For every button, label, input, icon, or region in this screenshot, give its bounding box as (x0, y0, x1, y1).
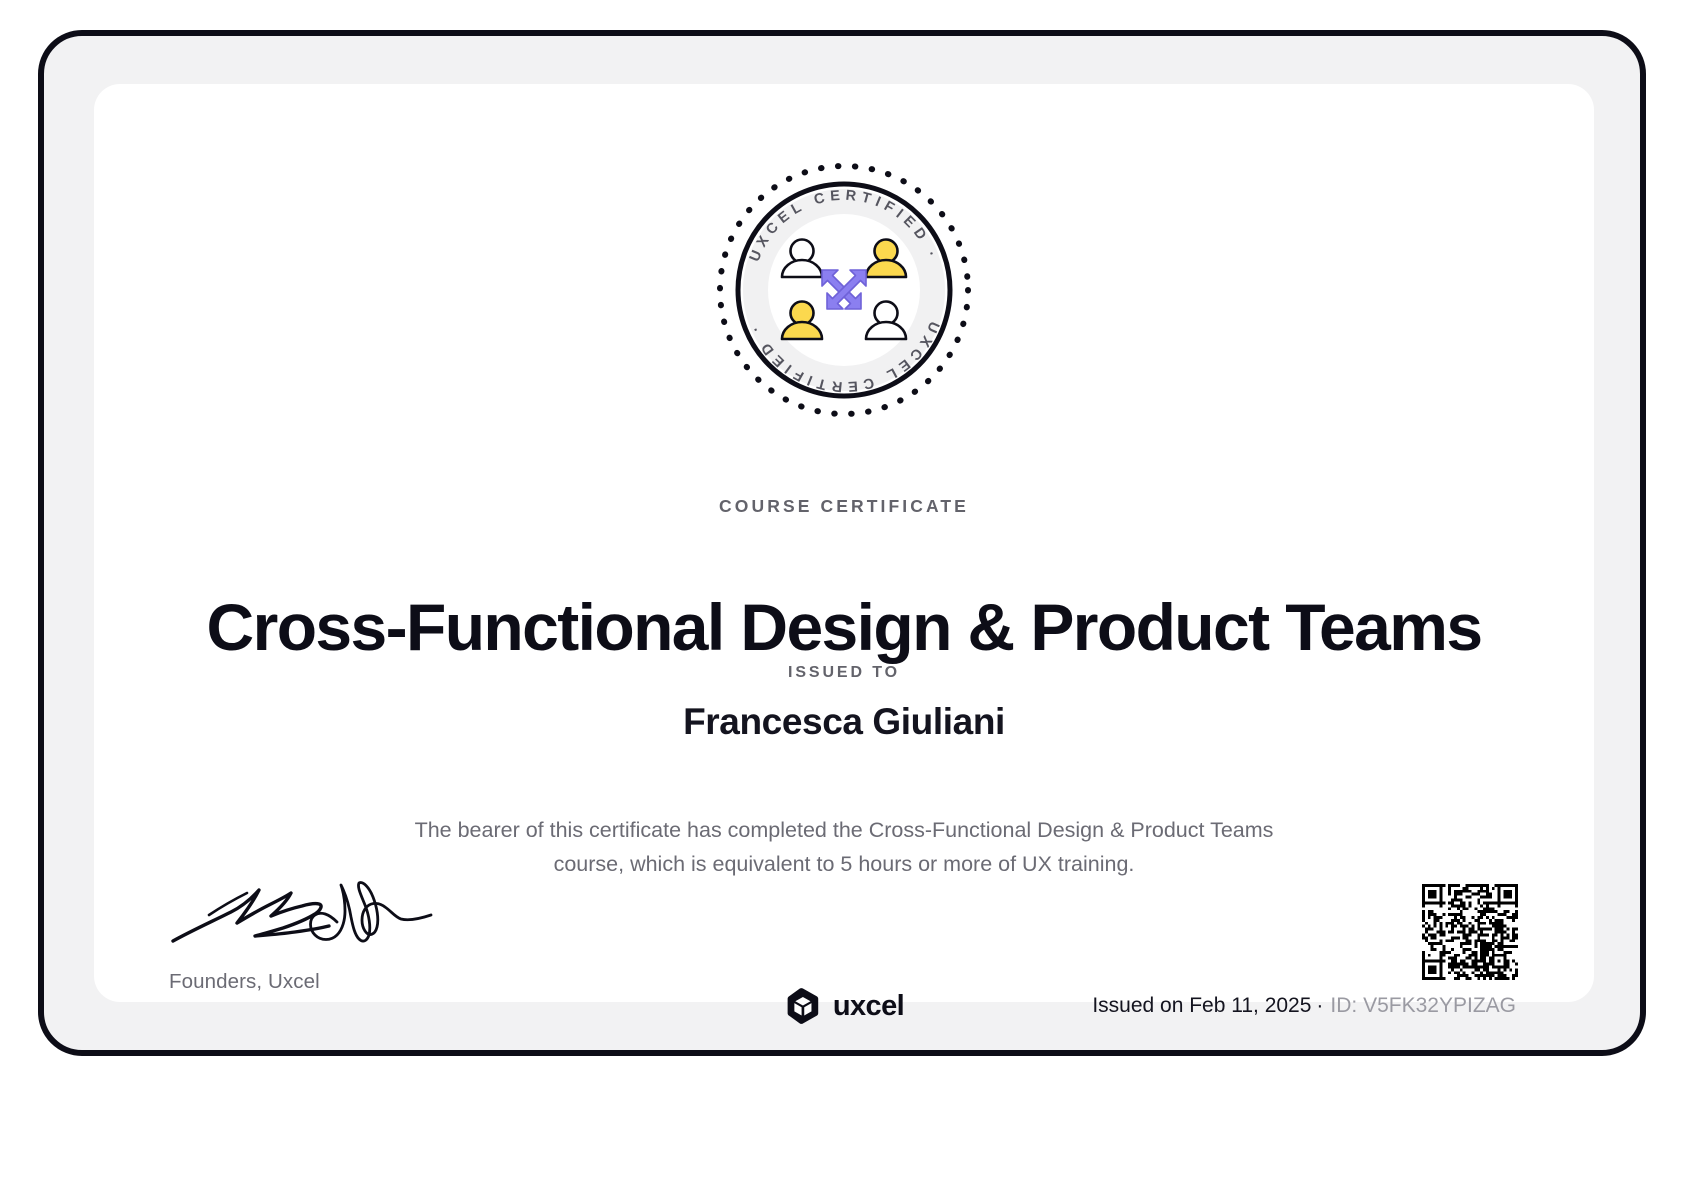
certificate-kicker: COURSE CERTIFICATE (94, 496, 1594, 517)
issued-to-label: ISSUED TO (94, 664, 1594, 682)
certification-seal: UXCEL CERTIFIED · UXCEL CERTIFIED · (710, 156, 978, 424)
page-title: Cross-Functional Design & Product Teams (94, 590, 1594, 666)
uxcel-wordmark: uxcel (833, 990, 904, 1023)
certificate-qr-code[interactable] (1422, 884, 1518, 980)
meta-separator: · (1316, 994, 1323, 1017)
founder-signatures-icon (169, 879, 459, 954)
uxcel-brand-logo: uxcel (784, 987, 904, 1025)
certificate-frame: UXCEL CERTIFIED · UXCEL CERTIFIED · (38, 30, 1646, 1056)
issued-on-text: Issued on Feb 11, 2025 (1092, 994, 1311, 1017)
certificate-card: UXCEL CERTIFIED · UXCEL CERTIFIED · (94, 84, 1594, 1002)
certificate-meta: Issued on Feb 11, 2025·ID: V5FK32YPIZAG (1092, 994, 1516, 1018)
recipient-name: Francesca Giuliani (94, 701, 1594, 743)
signature-caption: Founders, Uxcel (169, 970, 529, 994)
uxcel-hexagon-cube-icon (784, 987, 822, 1025)
signature-block: Founders, Uxcel (169, 879, 529, 994)
certificate-description: The bearer of this certificate has compl… (394, 813, 1294, 881)
certificate-id: ID: V5FK32YPIZAG (1330, 994, 1516, 1017)
